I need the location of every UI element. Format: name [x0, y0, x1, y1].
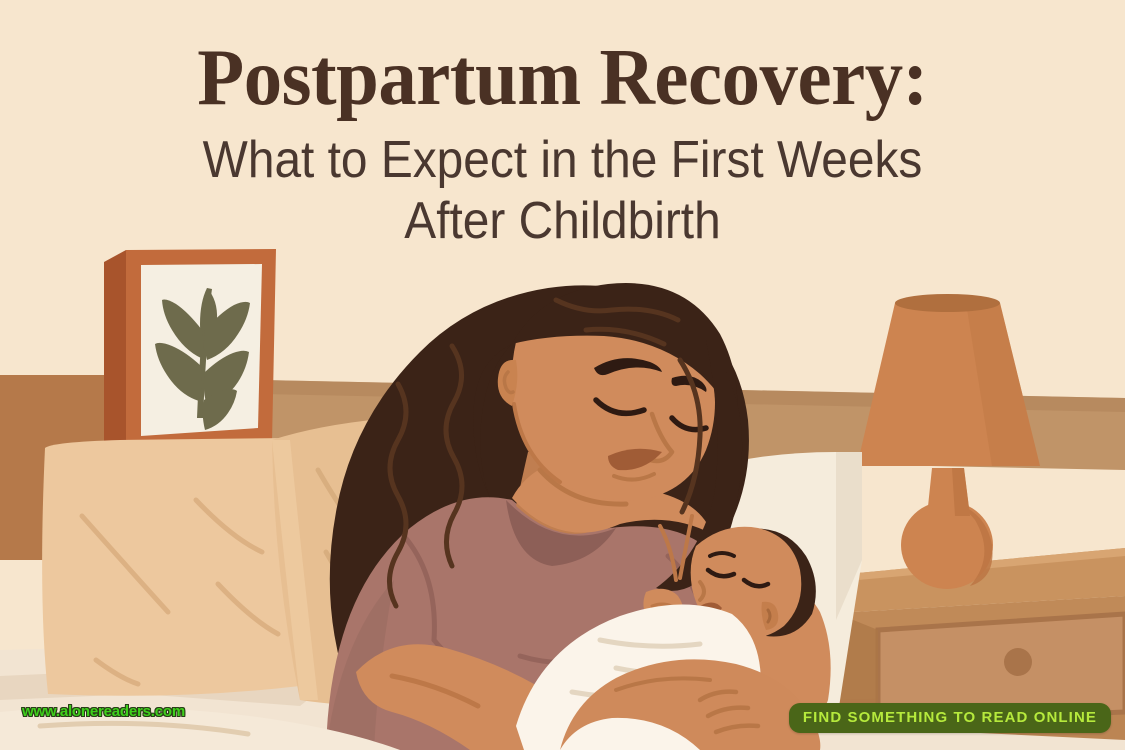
drawer-knob	[1004, 648, 1032, 676]
bed-pillow-left	[42, 438, 300, 696]
cta-badge[interactable]: FIND SOMETHING TO READ ONLINE	[789, 703, 1111, 733]
site-watermark[interactable]: www.alonereaders.com	[22, 703, 185, 720]
article-banner: Postpartum Recovery: What to Expect in t…	[0, 0, 1125, 750]
framed-leaf-print	[104, 249, 276, 452]
frame-side-edge	[104, 250, 126, 452]
cta-badge-label: FIND SOMETHING TO READ ONLINE	[803, 709, 1097, 726]
bedroom-illustration	[0, 0, 1125, 750]
lamp-shade-top	[895, 294, 1000, 312]
